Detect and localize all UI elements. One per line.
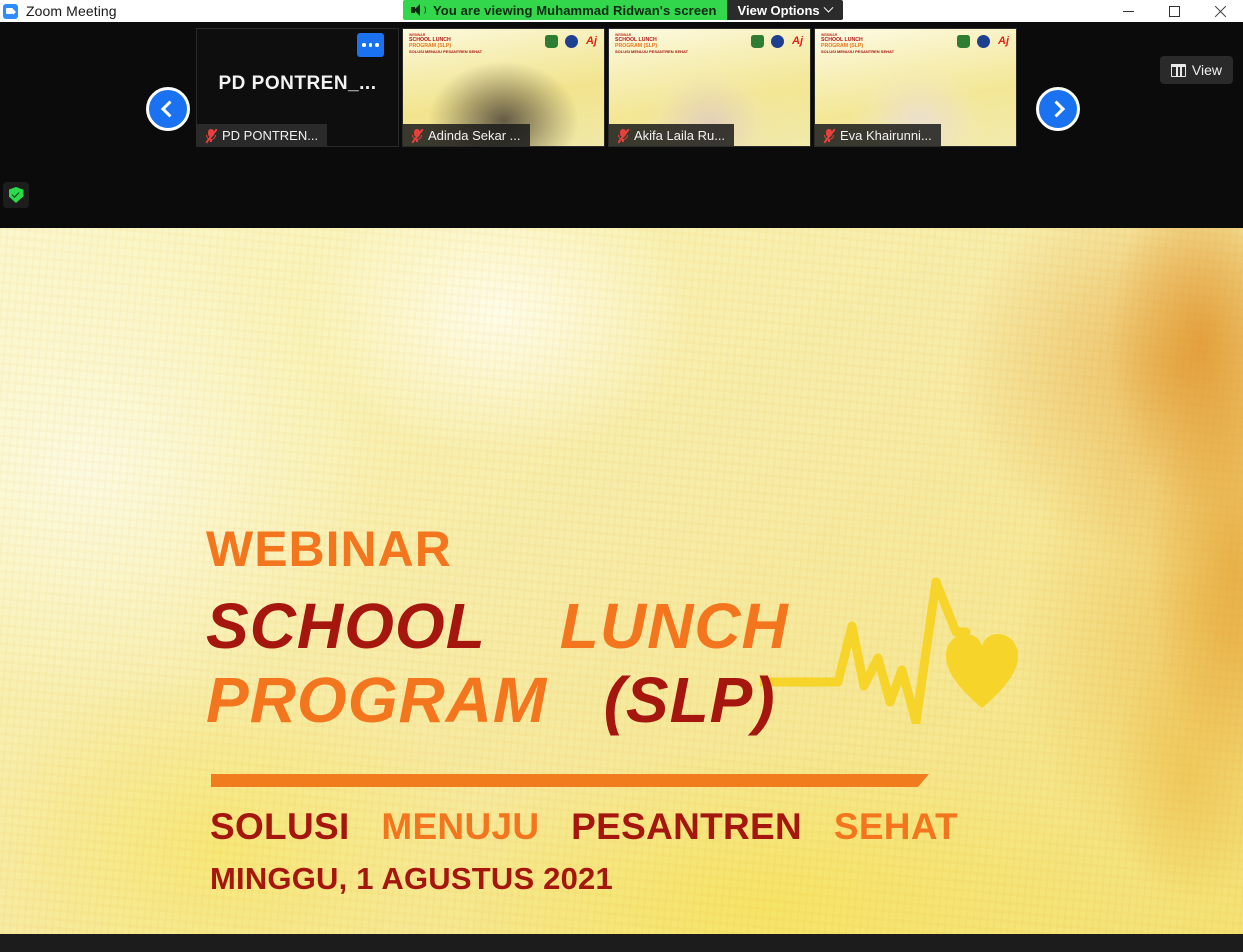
tile-slide-header: WEBINAR SCHOOL LUNCH PROGRAM (SLP) SOLUS… <box>821 34 894 55</box>
window-title: Zoom Meeting <box>26 3 117 19</box>
participant-tile[interactable]: WEBINAR SCHOOL LUNCH PROGRAM (SLP) SOLUS… <box>608 28 811 147</box>
participant-tiles: PD PONTREN_... PD PONTREN... WEBINAR SCH… <box>196 28 1017 147</box>
slide-title-slp: (SLP) <box>604 664 776 736</box>
ajinomoto-logo-icon: Aj <box>997 35 1010 48</box>
participant-filmstrip: PD PONTREN_... PD PONTREN... WEBINAR SCH… <box>0 22 1243 228</box>
subtitle-sehat: SEHAT <box>834 806 958 847</box>
tile-slide-line4: SOLUSI MENUJU PESANTREN SEHAT <box>409 50 482 54</box>
ajinomoto-logo-icon: Aj <box>585 35 598 48</box>
meeting-bottom-bar <box>0 934 1243 952</box>
minimize-button[interactable] <box>1105 0 1151 22</box>
tile-name-bar: PD PONTREN... <box>197 124 327 146</box>
participant-name: Akifa Laila Ru... <box>634 128 725 143</box>
zoom-icon <box>3 4 18 19</box>
share-status-text: You are viewing Muhammad Ridwan's screen <box>433 3 717 18</box>
filmstrip-prev-button[interactable] <box>146 87 190 131</box>
ellipsis-icon <box>362 43 366 47</box>
green-shield-check-icon <box>9 187 24 203</box>
speaker-icon <box>411 3 428 17</box>
tile-name-bar: Eva Khairunni... <box>815 124 941 146</box>
tile-more-options-button[interactable] <box>357 33 384 57</box>
microphone-muted-icon <box>616 128 629 143</box>
slide-subtitle: SOLUSI MENUJU PESANTREN SEHAT <box>210 806 958 848</box>
tile-name-bar: Adinda Sekar ... <box>403 124 530 146</box>
tile-slide-header: WEBINAR SCHOOL LUNCH PROGRAM (SLP) SOLUS… <box>615 34 688 55</box>
slide-headline: WEBINAR SCHOOL LUNCH PROGRAM (SLP) <box>206 524 789 742</box>
participant-tile[interactable]: WEBINAR SCHOOL LUNCH PROGRAM (SLP) SOLUS… <box>814 28 1017 147</box>
subtitle-solusi: SOLUSI <box>210 806 350 847</box>
slide-title-school: SCHOOL <box>206 590 485 662</box>
view-button-label: View <box>1192 62 1222 78</box>
slide-title-program: PROGRAM <box>206 664 547 736</box>
maximize-icon <box>1169 6 1180 17</box>
share-status-pill: You are viewing Muhammad Ridwan's screen <box>403 0 727 20</box>
slide-divider-bar <box>211 774 929 787</box>
screen-share-banner: You are viewing Muhammad Ridwan's screen… <box>403 0 843 20</box>
subtitle-pesantren: PESANTREN <box>571 806 802 847</box>
slide-watercolor-wash <box>1053 228 1243 934</box>
kemenag-emblem-icon <box>751 35 764 48</box>
participant-tile[interactable]: PD PONTREN_... PD PONTREN... <box>196 28 399 147</box>
ipb-seal-icon <box>771 35 784 48</box>
zoom-meeting-window: Zoom Meeting You are viewing Muhammad Ri… <box>0 0 1243 952</box>
tile-slide-line4: SOLUSI MENUJU PESANTREN SEHAT <box>821 50 894 54</box>
tile-logo-row: Aj <box>545 35 598 48</box>
subtitle-menuju: MENUJU <box>381 806 539 847</box>
participant-name: PD PONTREN... <box>222 128 318 143</box>
minimize-icon <box>1123 11 1134 12</box>
participant-name: Adinda Sekar ... <box>428 128 521 143</box>
view-options-label: View Options <box>738 3 820 18</box>
ipb-seal-icon <box>977 35 990 48</box>
chevron-down-icon <box>823 2 833 12</box>
view-options-button[interactable]: View Options <box>727 0 843 20</box>
slide-title-line-2: PROGRAM (SLP) <box>206 660 789 742</box>
kemenag-emblem-icon <box>545 35 558 48</box>
layout-grid-icon <box>1171 64 1186 77</box>
tile-name-bar: Akifa Laila Ru... <box>609 124 734 146</box>
chevron-left-icon <box>161 101 178 118</box>
ajinomoto-logo-icon: Aj <box>791 35 804 48</box>
slide-date: MINGGU, 1 AGUSTUS 2021 <box>210 861 613 897</box>
slide-title-lunch: LUNCH <box>560 590 789 662</box>
maximize-button[interactable] <box>1151 0 1197 22</box>
tile-slide-line4: SOLUSI MENUJU PESANTREN SEHAT <box>615 50 688 54</box>
participant-name: Eva Khairunni... <box>840 128 932 143</box>
encryption-status-button[interactable] <box>3 182 29 208</box>
slide-eyebrow: WEBINAR <box>206 524 789 574</box>
slide-title-line-1: SCHOOL LUNCH <box>206 586 789 668</box>
kemenag-emblem-icon <box>957 35 970 48</box>
close-button[interactable] <box>1197 0 1243 22</box>
tile-logo-row: Aj <box>751 35 804 48</box>
tile-logo-row: Aj <box>957 35 1010 48</box>
microphone-muted-icon <box>822 128 835 143</box>
tile-slide-header: WEBINAR SCHOOL LUNCH PROGRAM (SLP) SOLUS… <box>409 34 482 55</box>
chevron-right-icon <box>1048 101 1065 118</box>
close-icon <box>1214 5 1227 18</box>
participant-tile[interactable]: WEBINAR SCHOOL LUNCH PROGRAM (SLP) SOLUS… <box>402 28 605 147</box>
microphone-muted-icon <box>410 128 423 143</box>
shared-screen-slide: WEBINAR SCHOOL LUNCH PROGRAM (SLP) SOLUS… <box>0 228 1243 934</box>
view-layout-button[interactable]: View <box>1160 56 1233 84</box>
filmstrip-next-button[interactable] <box>1036 87 1080 131</box>
ipb-seal-icon <box>565 35 578 48</box>
heartbeat-line-with-heart <box>760 574 1030 724</box>
participant-display-name-large: PD PONTREN_... <box>197 73 398 95</box>
microphone-muted-icon <box>204 128 217 143</box>
